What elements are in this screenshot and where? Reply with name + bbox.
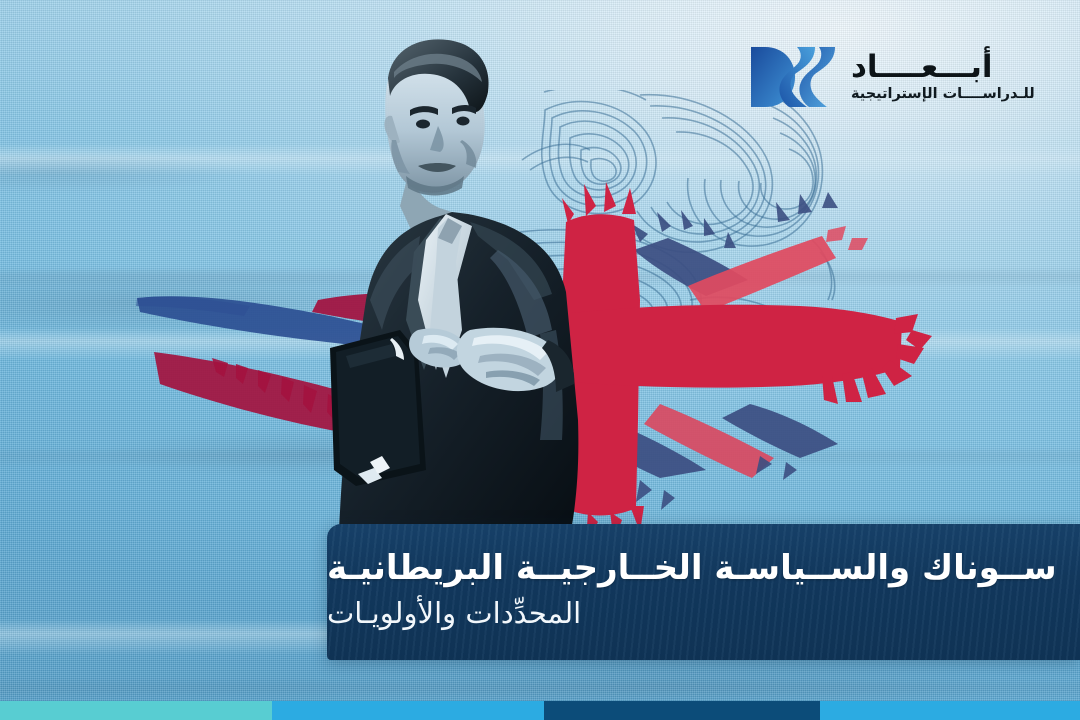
logo-title: أبـــعــــاد [851, 52, 992, 83]
logo[interactable]: أبـــعــــاد للـدراســــات الإستراتيجية [747, 44, 1035, 110]
logo-text: أبـــعــــاد للـدراســــات الإستراتيجية [851, 52, 1035, 102]
bottom-bar-segment-sky [272, 701, 544, 720]
poster-root: أبـــعــــاد للـدراســــات الإستراتيجية [0, 0, 1080, 720]
banner-subtitle: المحدِّدات والأولويـات [327, 596, 581, 631]
logo-subtitle: للـدراســــات الإستراتيجية [851, 87, 1035, 102]
portrait-figure [330, 39, 578, 556]
bottom-bar-segment-sky-right [820, 701, 1080, 720]
bottom-bar-segment-navy [544, 701, 820, 720]
bottom-color-bar [0, 701, 1080, 720]
banner-title: ســوناك والســياسـة الخــارجيــة البريطا… [327, 547, 1057, 590]
title-banner: ســوناك والســياسـة الخــارجيــة البريطا… [327, 524, 1080, 660]
dss-monogram-icon [747, 44, 839, 110]
bottom-bar-segment-teal [0, 701, 272, 720]
